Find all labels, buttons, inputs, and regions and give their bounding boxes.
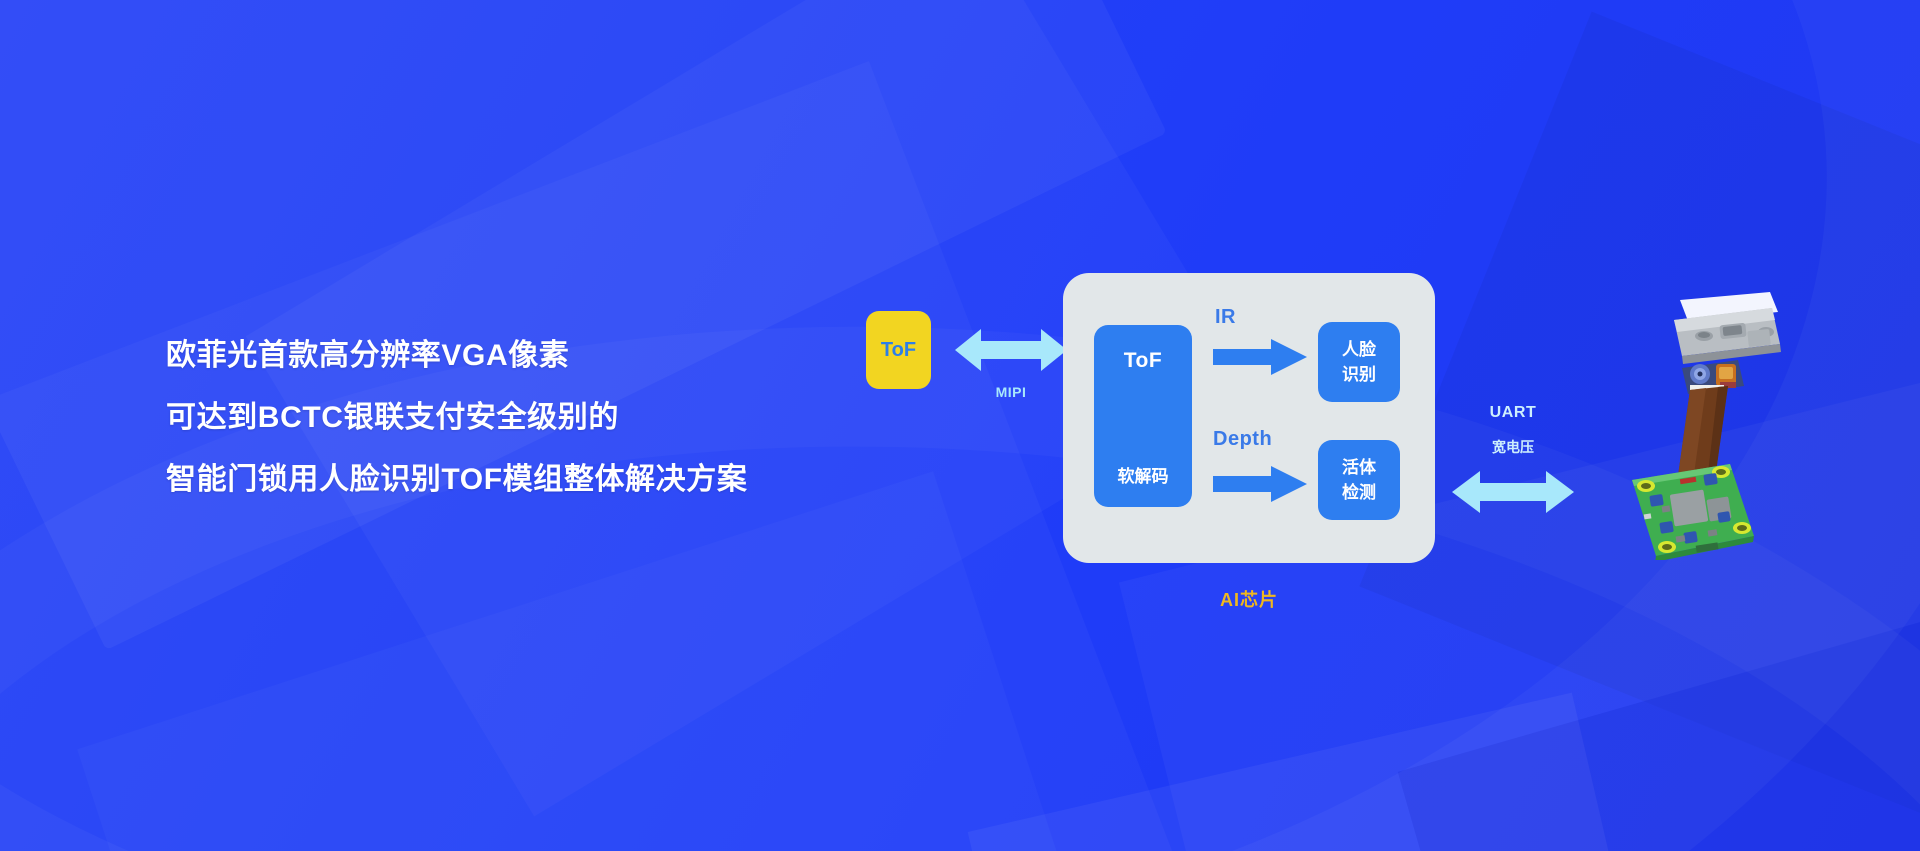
- bg-polygon-h: [968, 693, 1613, 851]
- headline-line-3: 智能门锁用人脸识别TOF模组整体解决方案: [166, 449, 747, 511]
- double-arrow-horizontal-icon: [1452, 469, 1574, 515]
- output-liveness-detection: 活体 检测: [1318, 440, 1400, 520]
- output-liveness-line-1: 活体: [1342, 455, 1376, 480]
- output-liveness-line-2: 检测: [1342, 480, 1376, 505]
- chip-tof-title: ToF: [1124, 349, 1162, 373]
- uart-label: UART: [1452, 404, 1574, 422]
- flow-label-depth: Depth: [1213, 428, 1272, 451]
- chip-tof-module: ToF 软解码: [1094, 325, 1192, 507]
- wide-voltage-label: 宽电压: [1452, 437, 1574, 457]
- headline-line-1: 欧菲光首款高分辨率VGA像素: [166, 325, 747, 387]
- double-arrow-horizontal-icon: [955, 327, 1067, 373]
- external-tof-label: ToF: [881, 339, 916, 362]
- promo-banner: 欧菲光首款高分辨率VGA像素 可达到BCTC银联支付安全级别的 智能门锁用人脸识…: [0, 0, 1920, 851]
- green-pcb: [1632, 464, 1754, 560]
- fpc-ribbon-cable: [1678, 386, 1728, 476]
- mipi-label: MIPI: [955, 384, 1067, 400]
- arrow-right-icon: [1213, 339, 1307, 375]
- headline-text: 欧菲光首款高分辨率VGA像素 可达到BCTC银联支付安全级别的 智能门锁用人脸识…: [166, 325, 747, 511]
- flow-label-ir: IR: [1215, 306, 1236, 329]
- output-face-line-2: 识别: [1342, 362, 1376, 387]
- external-tof-sensor: ToF: [866, 311, 931, 389]
- chip-tof-subtitle: 软解码: [1118, 462, 1169, 487]
- bg-polygon-f: [77, 471, 1063, 851]
- output-face-recognition: 人脸 识别: [1318, 322, 1400, 402]
- headline-line-2: 可达到BCTC银联支付安全级别的: [166, 387, 747, 449]
- hardware-module-photo: [1620, 290, 1850, 560]
- arrow-right-icon: [1213, 466, 1307, 502]
- output-face-line-1: 人脸: [1342, 337, 1376, 362]
- ai-chip-caption: AI芯片: [1063, 586, 1435, 612]
- bg-polygon-g: [1398, 617, 1920, 851]
